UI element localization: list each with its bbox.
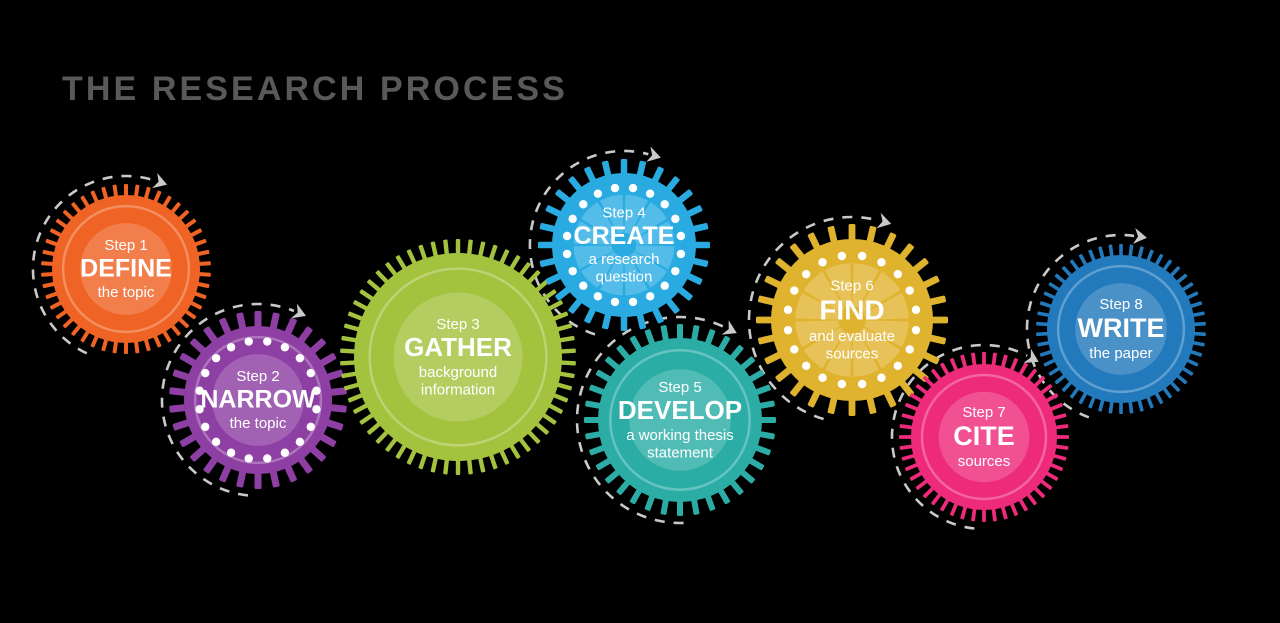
gear-dot [894, 362, 902, 370]
gear-dot [579, 200, 587, 208]
gear-verb: FIND [819, 295, 884, 326]
gear-verb: NARROW [200, 386, 316, 414]
gears-layer: Step 1DEFINEthe topicStep 2NARROWthe top… [41, 159, 1206, 522]
gear-dot [563, 232, 571, 240]
gear-dot [227, 449, 235, 457]
gear-dot [677, 250, 685, 258]
gear-tail-1: sources [958, 453, 1011, 470]
gear-dot [245, 454, 253, 462]
arc-arrowhead-icon [877, 213, 894, 232]
gear-step-number: Step 8 [1099, 296, 1142, 313]
gear-step-number: Step 4 [602, 204, 645, 221]
gear-verb: DEFINE [80, 255, 172, 283]
gear-step-number: Step 2 [236, 368, 279, 385]
gear-dot [646, 292, 654, 300]
gear-step-number: Step 7 [962, 404, 1005, 421]
gear-dot [594, 189, 602, 197]
gear-step-number: Step 5 [658, 379, 701, 396]
gear-dot [212, 354, 220, 362]
gear-tail-2: information [421, 381, 495, 398]
gear-dot [281, 449, 289, 457]
gear-tail-1: the paper [1089, 345, 1152, 362]
gear-dot [646, 189, 654, 197]
gear-verb: GATHER [404, 332, 512, 362]
arc-arrowhead-icon [1133, 228, 1148, 246]
gear-step-number: Step 1 [104, 237, 147, 254]
gear-dot [201, 423, 209, 431]
gear-dot [818, 258, 826, 266]
gear-dot [818, 374, 826, 382]
gear-dot [307, 369, 315, 377]
gear-step-number: Step 3 [436, 316, 479, 333]
gear-step-8[interactable]: Step 8WRITEthe paper [1036, 244, 1206, 414]
gear-dot [858, 252, 866, 260]
gear-step-5[interactable]: Step 5DEVELOPa working thesisstatement [584, 324, 776, 516]
gear-dot [671, 267, 679, 275]
gear-step-1[interactable]: Step 1DEFINEthe topic [41, 184, 211, 354]
gear-step-7[interactable]: Step 7CITEsources [899, 352, 1069, 522]
gear-dot [661, 282, 669, 290]
gear-dot [912, 306, 920, 314]
gear-dot [906, 286, 914, 294]
gear-step-number: Step 6 [830, 278, 873, 295]
gear-dot [245, 337, 253, 345]
gear-tail-1: the topic [98, 284, 155, 301]
gear-dot [877, 258, 885, 266]
gear-dot [227, 343, 235, 351]
gear-dot [281, 343, 289, 351]
gear-dot [790, 345, 798, 353]
gear-label-group: Step 7CITEsources [953, 404, 1015, 470]
gear-dot [307, 423, 315, 431]
gear-tail-1: background [419, 364, 497, 381]
gear-step-2[interactable]: Step 2NARROWthe topic [169, 311, 347, 489]
gear-step-3[interactable]: Step 3GATHERbackgroundinformation [340, 239, 576, 475]
gear-dot [858, 380, 866, 388]
gear-dot [263, 454, 271, 462]
gear-dot [661, 200, 669, 208]
gear-dot [563, 250, 571, 258]
gear-dot [629, 184, 637, 192]
gear-dot [594, 292, 602, 300]
gear-dot [838, 252, 846, 260]
gear-dot [629, 298, 637, 306]
gear-dot [784, 326, 792, 334]
gear-dot [784, 306, 792, 314]
gear-verb: DEVELOP [618, 395, 742, 425]
gear-dot [296, 354, 304, 362]
gear-tail-1: a research [589, 251, 660, 268]
gear-dot [677, 232, 685, 240]
gear-dot [201, 369, 209, 377]
gear-tail-1: and evaluate [809, 328, 895, 345]
gear-tail-2: question [596, 269, 653, 286]
gear-dot [212, 438, 220, 446]
gear-dot [802, 362, 810, 370]
gear-dot [877, 374, 885, 382]
arc-arrowhead-icon [152, 173, 169, 192]
gear-dot [296, 438, 304, 446]
gear-tail-1: a working thesis [626, 427, 734, 444]
gear-dot [906, 345, 914, 353]
gear-dot [611, 184, 619, 192]
research-process-diagram: Step 1DEFINEthe topicStep 2NARROWthe top… [0, 0, 1280, 623]
gear-dot [894, 270, 902, 278]
gear-verb: CITE [953, 421, 1015, 451]
gear-verb: CREATE [574, 222, 675, 250]
gear-dot [802, 270, 810, 278]
arc-arrowhead-icon [646, 146, 663, 165]
gear-dot [838, 380, 846, 388]
gear-dot [579, 282, 587, 290]
gear-tail-2: statement [647, 444, 714, 461]
gear-dot [790, 286, 798, 294]
gear-dot [611, 298, 619, 306]
gear-dot [263, 337, 271, 345]
gear-tail-2: sources [826, 346, 879, 363]
gear-dot [568, 267, 576, 275]
gear-step-4[interactable]: Step 4CREATEa researchquestion [538, 159, 710, 331]
gear-dot [912, 326, 920, 334]
gear-verb: WRITE [1078, 313, 1165, 343]
infographic-canvas: THE RESEARCH PROCESS Step 1DEFINEthe top… [0, 0, 1280, 623]
gear-tail-1: the topic [230, 415, 287, 432]
